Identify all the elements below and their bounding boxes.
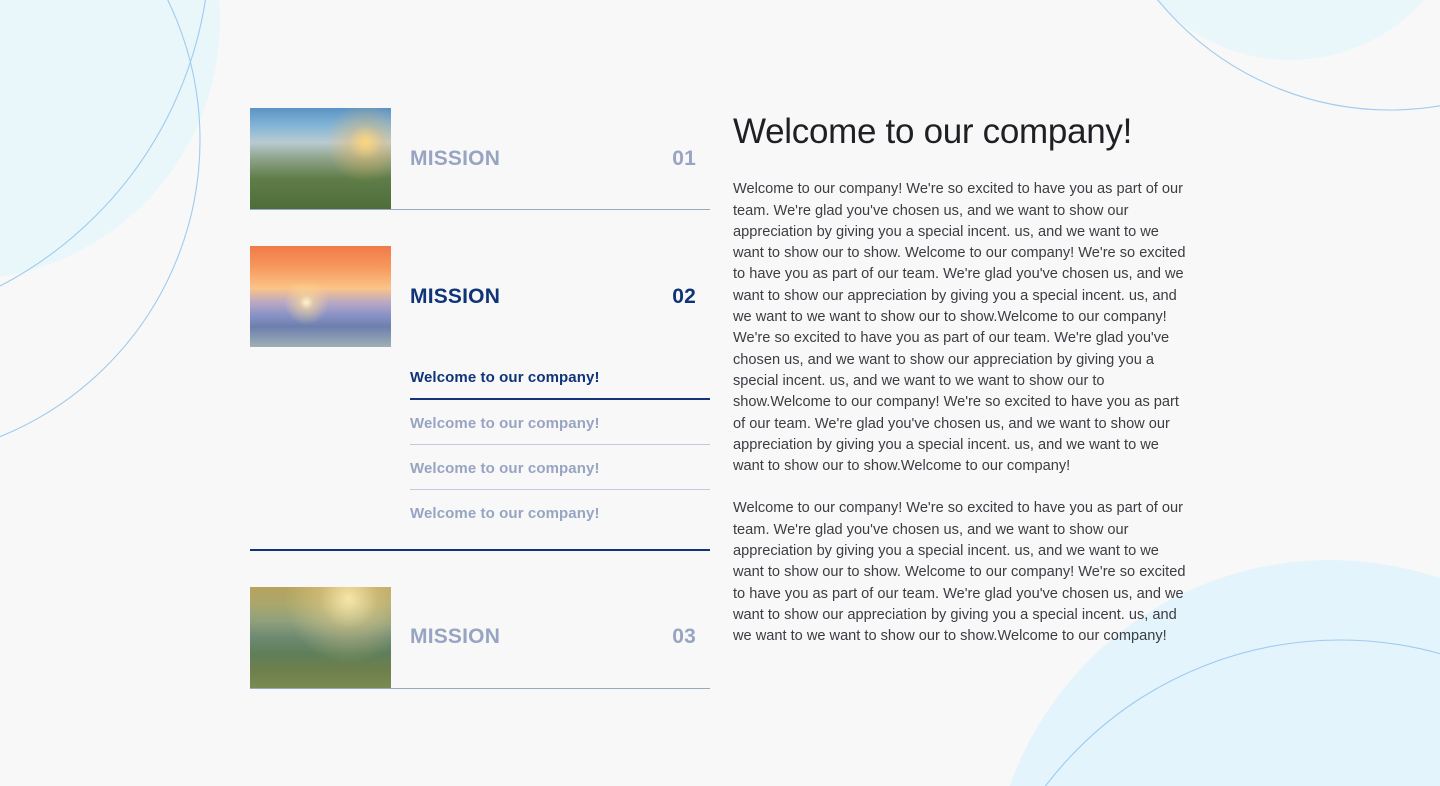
mission-number: 02 (672, 285, 696, 309)
mission-label: MISSION (410, 285, 500, 309)
slide-canvas: MISSION 01 MISSION 02 Welcome to our com… (0, 0, 1440, 786)
sublist-item-label: Welcome to our company! (410, 505, 710, 534)
spacer (250, 210, 710, 246)
article-paragraph: Welcome to our company! We're so excited… (733, 179, 1188, 477)
mission-label: MISSION (410, 625, 500, 649)
sublist-item-label: Welcome to our company! (410, 460, 710, 489)
sublist-item[interactable]: Welcome to our company! (410, 460, 710, 505)
mission-number: 03 (672, 625, 696, 649)
sublist-item-divider (410, 489, 710, 490)
mission-meta-02: MISSION 02 (391, 246, 710, 347)
golden-hills-rocks-thumbnail (250, 587, 391, 688)
mission-label: MISSION (410, 147, 500, 171)
mission-row-03[interactable]: MISSION 03 (250, 587, 710, 688)
mission-meta-03: MISSION 03 (391, 587, 710, 688)
sunset-meadow-thumbnail (250, 246, 391, 347)
mission-meta-01: MISSION 01 (391, 108, 710, 209)
spacer (250, 551, 710, 587)
mission-number: 01 (672, 147, 696, 171)
sublist-item-divider (410, 444, 710, 445)
mountain-valley-sunrise-thumbnail (250, 108, 391, 209)
mission-divider-01 (250, 209, 710, 210)
article-paragraph: Welcome to our company! We're so excited… (733, 498, 1188, 647)
mission-block-02[interactable]: MISSION 02 Welcome to our company! Welco… (250, 246, 710, 551)
sublist-item[interactable]: Welcome to our company! (410, 369, 710, 415)
mission-row-02[interactable]: MISSION 02 (250, 246, 710, 347)
sublist-item-divider (410, 398, 710, 400)
sublist-item[interactable]: Welcome to our company! (410, 415, 710, 460)
sublist-item[interactable]: Welcome to our company! (410, 505, 710, 549)
mission-sublist: Welcome to our company! Welcome to our c… (410, 347, 710, 549)
mission-block-01[interactable]: MISSION 01 (250, 108, 710, 210)
page-title: Welcome to our company! (733, 112, 1188, 152)
mission-accordion: MISSION 01 MISSION 02 Welcome to our com… (250, 108, 710, 689)
mission-block-03[interactable]: MISSION 03 (250, 587, 710, 689)
mission-divider-02 (250, 549, 710, 551)
sublist-item-label: Welcome to our company! (410, 415, 710, 444)
sublist-item-label: Welcome to our company! (410, 369, 710, 398)
article-panel: Welcome to our company! Welcome to our c… (733, 112, 1188, 647)
mission-row-01[interactable]: MISSION 01 (250, 108, 710, 209)
mission-divider-03 (250, 688, 710, 689)
